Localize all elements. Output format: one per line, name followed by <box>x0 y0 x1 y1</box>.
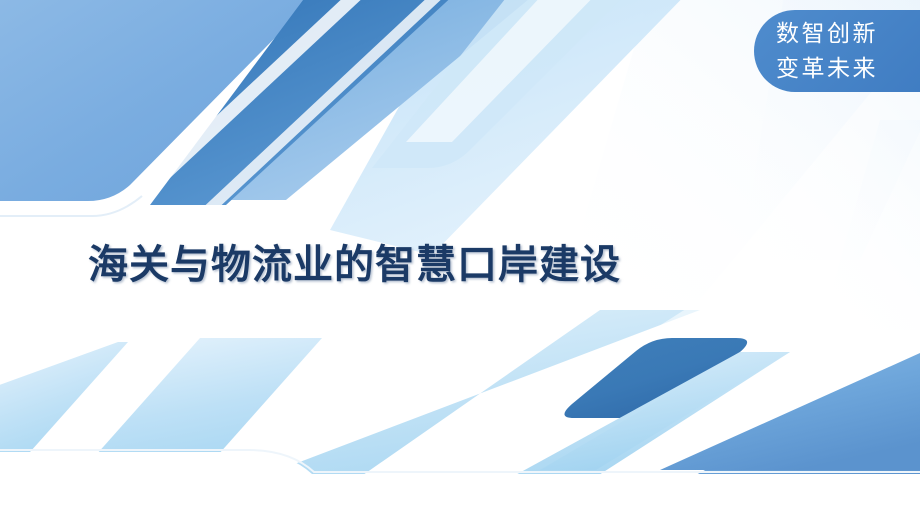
page-title: 海关与物流业的智慧口岸建设 <box>88 232 621 290</box>
corner-tagline-badge: 数智创新 变革未来 <box>754 10 920 92</box>
badge-line-2: 变革未来 <box>776 51 920 86</box>
badge-line-1: 数智创新 <box>776 16 920 51</box>
slide-canvas: 数智创新 变革未来 海关与物流业的智慧口岸建设 <box>0 0 920 518</box>
